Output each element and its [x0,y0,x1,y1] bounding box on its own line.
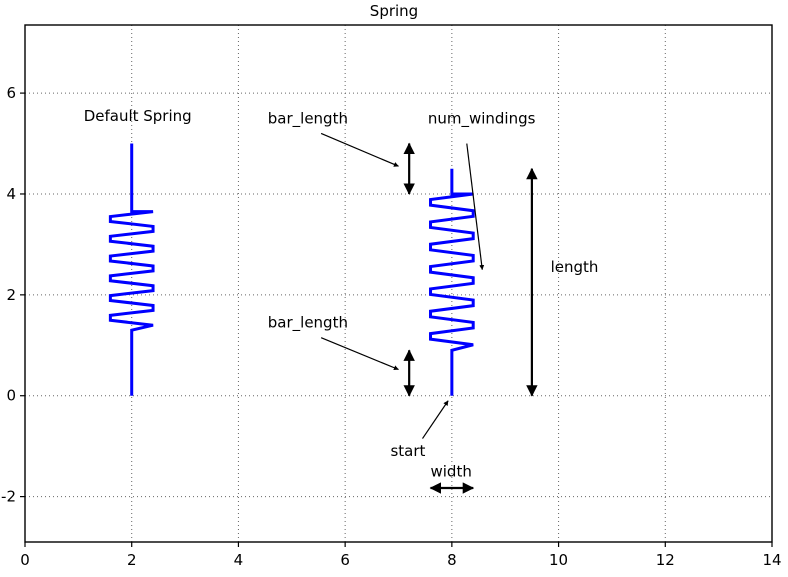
xtick-label: 4 [234,551,244,569]
ytick-label: 2 [6,286,16,304]
ytick-label: 6 [6,84,16,102]
num-windings-label: num_windings [428,109,536,128]
xtick-label: 12 [656,551,675,569]
width-label: width [431,462,472,480]
bar-length-top-label: bar_length [268,109,348,128]
xtick-label: 8 [447,551,457,569]
bar-length-bottom-label: bar_length [268,314,348,333]
ytick-label: -2 [1,488,16,506]
xtick-label: 0 [20,551,30,569]
xtick-label: 10 [549,551,568,569]
chart-title: Spring [370,2,418,20]
length-label: length [551,258,599,276]
ytick-label: 4 [6,185,16,203]
xtick-label: 14 [762,551,781,569]
xtick-label: 2 [127,551,137,569]
spring-plot: Default Springbar_lengthnum_windingsbar_… [0,0,788,577]
figure-canvas: Default Springbar_lengthnum_windingsbar_… [0,0,788,577]
default-spring-label: Default Spring [84,107,192,125]
xtick-label: 6 [340,551,350,569]
start-label: start [390,442,425,460]
plot-background [0,0,788,577]
ytick-label: 0 [6,387,16,405]
